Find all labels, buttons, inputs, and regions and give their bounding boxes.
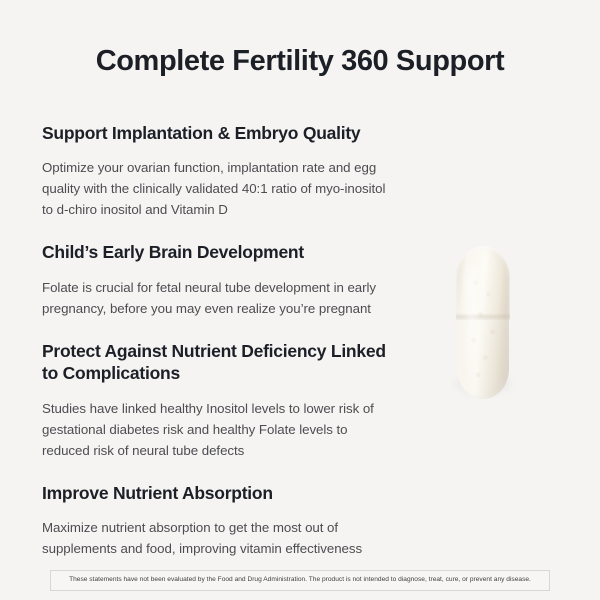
benefit-heading: Child’s Early Brain Development	[42, 241, 392, 263]
capsule-body	[457, 247, 509, 399]
product-benefits-panel: Complete Fertility 360 Support Support I…	[0, 0, 600, 600]
benefit-item: Protect Against Nutrient Deficiency Link…	[42, 340, 392, 461]
benefit-item: Support Implantation & Embryo Quality Op…	[42, 122, 392, 220]
fda-disclaimer-text: These statements have not been evaluated…	[69, 577, 531, 584]
page-title: Complete Fertility 360 Support	[0, 45, 600, 78]
benefit-heading: Improve Nutrient Absorption	[42, 482, 392, 504]
benefits-list: Support Implantation & Embryo Quality Op…	[42, 122, 392, 559]
benefit-body: Folate is crucial for fetal neural tube …	[42, 277, 392, 319]
benefit-item: Child’s Early Brain Development Folate i…	[42, 241, 392, 318]
benefit-body: Optimize your ovarian function, implanta…	[42, 157, 392, 220]
benefit-heading: Support Implantation & Embryo Quality	[42, 122, 392, 144]
capsule-highlight	[466, 257, 477, 389]
fda-disclaimer-box: These statements have not been evaluated…	[50, 570, 550, 591]
capsule-image	[457, 247, 509, 399]
capsule-cap	[456, 246, 510, 319]
benefit-item: Improve Nutrient Absorption Maximize nut…	[42, 482, 392, 559]
benefit-heading: Protect Against Nutrient Deficiency Link…	[42, 340, 392, 385]
benefit-body: Maximize nutrient absorption to get the …	[42, 517, 392, 559]
benefit-body: Studies have linked healthy Inositol lev…	[42, 398, 392, 461]
capsule-seam	[456, 313, 510, 320]
